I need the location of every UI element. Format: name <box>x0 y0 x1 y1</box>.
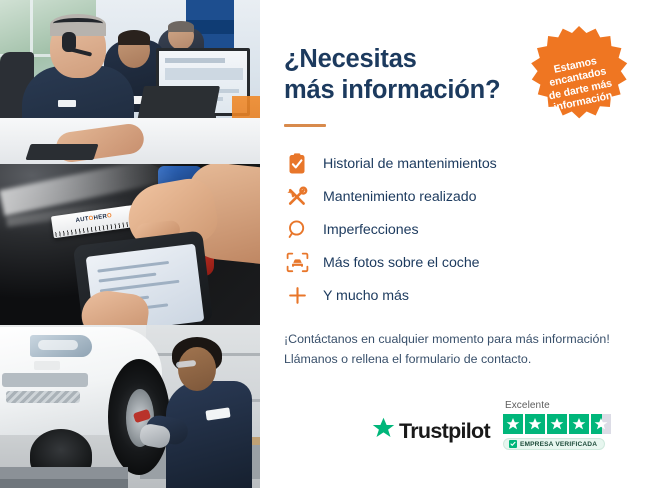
call-center-agents-photo <box>0 0 260 164</box>
star-partial-5 <box>591 414 611 434</box>
contact-line-2: Llámanos o rellena el formulario de cont… <box>284 350 628 370</box>
vehicle-inspection-photo: AUTOHERO <box>0 164 260 325</box>
clipboard-check-icon <box>284 151 310 177</box>
trustpilot-logo[interactable]: Trustpilot <box>372 417 490 450</box>
feature-item-maintenance-history: Historial de mantenimientos <box>284 147 628 180</box>
trustpilot-rating: Excelente <box>503 400 611 450</box>
car-scan-icon <box>284 250 310 276</box>
star-filled-4 <box>569 414 589 434</box>
status-badge: Estamos encantados de darte más informac… <box>520 24 638 142</box>
contact-text: ¡Contáctanos en cualquier momento para m… <box>284 330 628 369</box>
info-promo-card: AUTOHERO <box>0 0 650 488</box>
trustpilot-wordmark: Trustpilot <box>399 419 490 444</box>
feature-item-and-more: Y mucho más <box>284 279 628 312</box>
feature-item-imperfections: Imperfecciones <box>284 213 628 246</box>
feature-item-maintenance-done: Mantenimiento realizado <box>284 180 628 213</box>
feature-label: Historial de mantenimientos <box>323 157 497 171</box>
feature-list: Historial de mantenimientos Mantenimient… <box>284 147 628 312</box>
star-filled-2 <box>525 414 545 434</box>
feature-label: Más fotos sobre el coche <box>323 256 480 270</box>
title-line-1: ¿Necesitas <box>284 45 417 73</box>
photo-column: AUTOHERO <box>0 0 260 488</box>
rating-label: Excelente <box>505 400 550 411</box>
verified-business-badge: EMPRESA VERIFICADA <box>503 438 605 450</box>
workshop-wheel-check-photo <box>0 325 260 488</box>
contact-line-1: ¡Contáctanos en cualquier momento para m… <box>284 330 628 350</box>
feature-label: Imperfecciones <box>323 223 419 237</box>
trustpilot-block[interactable]: Trustpilot Excelente <box>372 400 611 450</box>
title-divider <box>284 124 326 127</box>
magnifier-icon <box>284 217 310 243</box>
plus-icon <box>284 283 310 309</box>
check-icon <box>509 440 517 448</box>
rating-stars <box>503 414 611 434</box>
feature-label: Mantenimiento realizado <box>323 190 476 204</box>
trustpilot-star-icon <box>372 417 395 445</box>
feature-label: Y mucho más <box>323 289 409 303</box>
verified-label: EMPRESA VERIFICADA <box>520 441 597 448</box>
star-filled-3 <box>547 414 567 434</box>
page-title: ¿Necesitas más información? <box>284 44 519 106</box>
info-panel: ¿Necesitas más información? Historial de… <box>260 0 650 488</box>
feature-item-more-photos: Más fotos sobre el coche <box>284 246 628 279</box>
tools-icon <box>284 184 310 210</box>
title-line-2: más información? <box>284 75 519 106</box>
star-filled-1 <box>503 414 523 434</box>
